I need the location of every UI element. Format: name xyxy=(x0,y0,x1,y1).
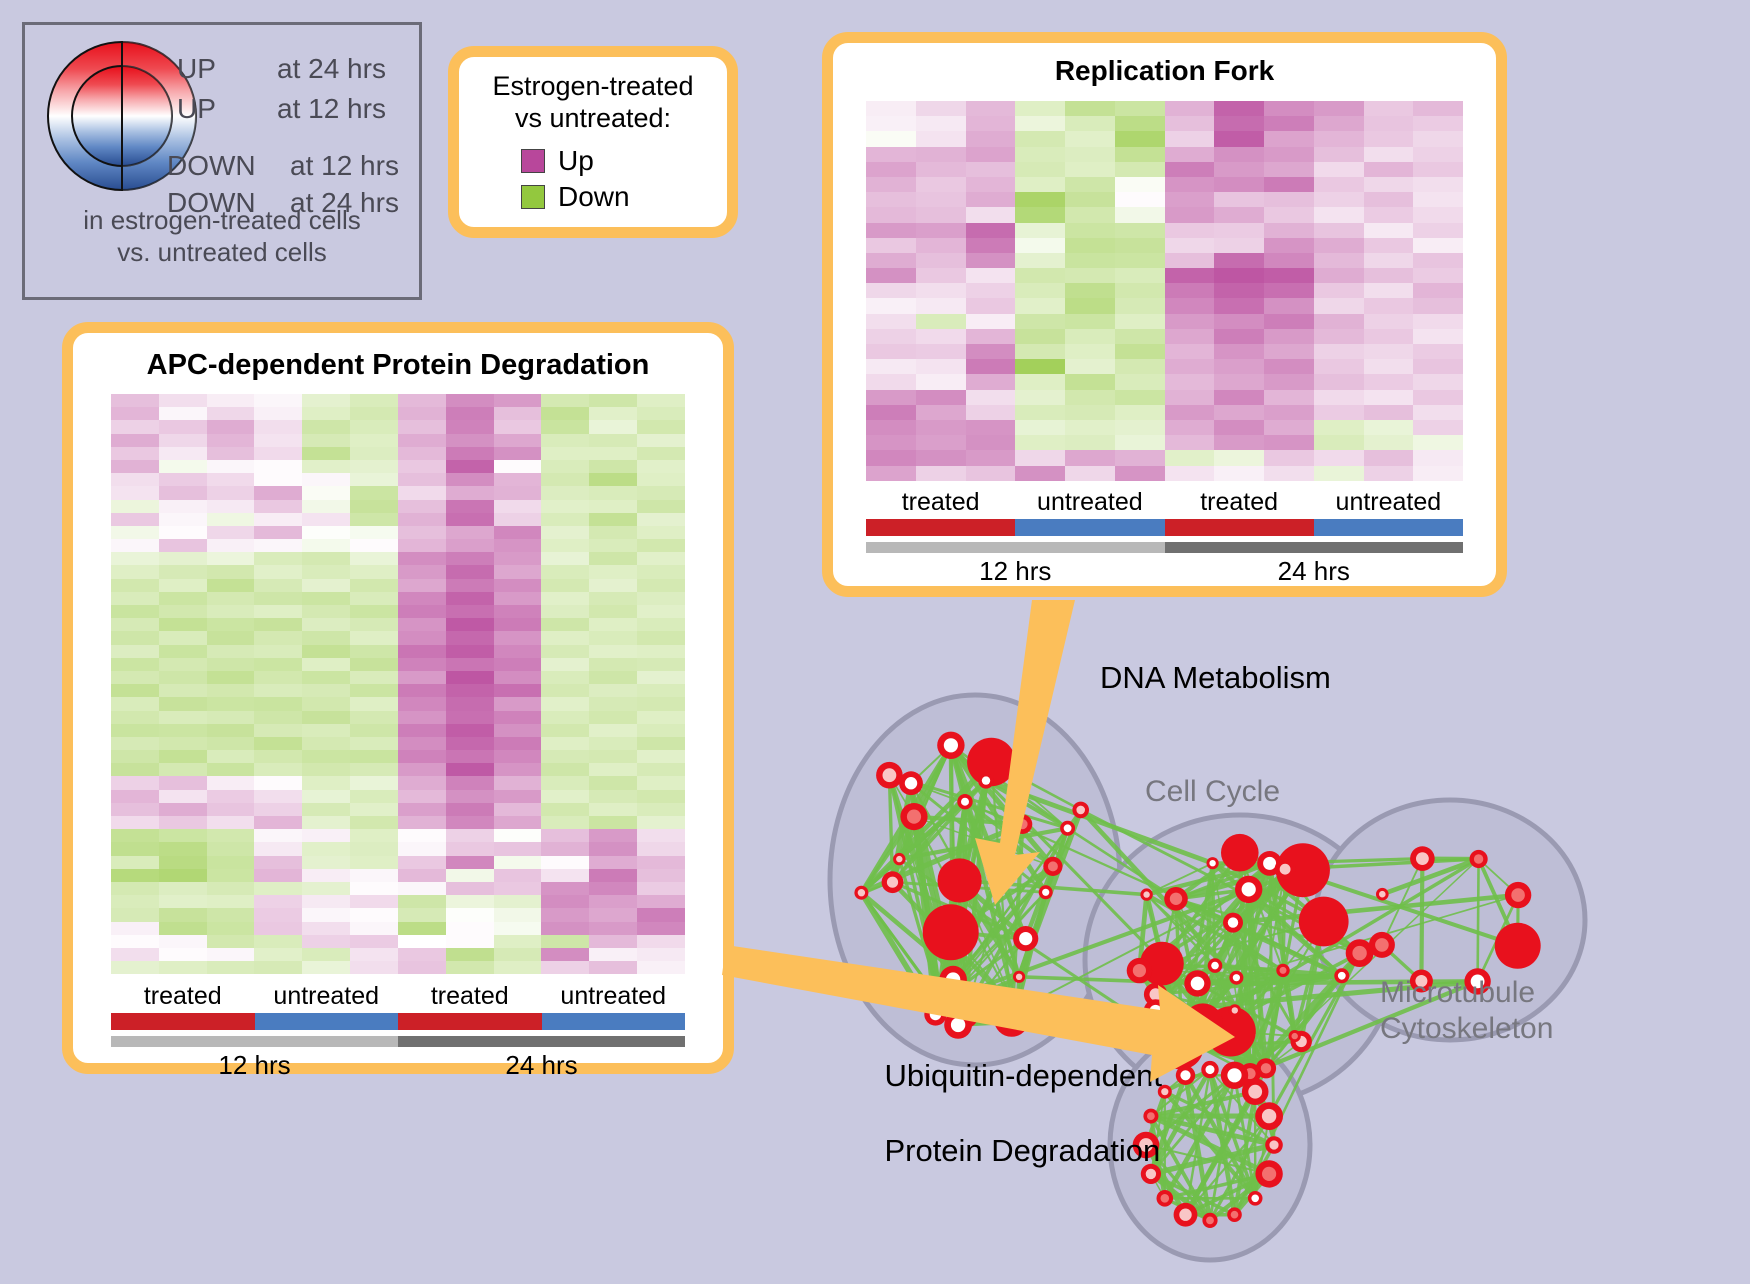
apc-degradation-panel: APC-dependent Protein Degradation treate… xyxy=(62,322,734,1074)
apc-timepoint-bar xyxy=(111,1036,685,1047)
direction-legend-footer: in estrogen-treated cells vs. untreated … xyxy=(25,205,419,268)
replication-fork-title: Replication Fork xyxy=(833,55,1496,87)
direction-legend-box: UP at 24 hrs UP at 12 hrs DOWN at 12 hrs… xyxy=(22,22,422,300)
replication-fork-sample-labels: treateduntreatedtreateduntreated xyxy=(866,488,1463,517)
expression-color-legend-panel: Estrogen-treated vs untreated: Up Down xyxy=(448,46,738,238)
callout-line-1: Ubiquitin-dependent xyxy=(884,1058,1162,1093)
legend-title-line-2: vs untreated: xyxy=(459,103,727,135)
apc-degradation-title: APC-dependent Protein Degradation xyxy=(73,349,723,382)
replication-fork-treatment-bar xyxy=(866,519,1463,536)
up-label: Up xyxy=(558,145,594,177)
legend-title: Estrogen-treated vs untreated: xyxy=(459,71,727,135)
wheel-divider xyxy=(121,41,123,191)
cluster-label-microtubule-cytoskeleton: MicrotubuleCytoskeleton xyxy=(1380,975,1553,1047)
wheel-key-down-12: DOWN xyxy=(167,150,256,182)
replication-fork-time-labels: 12 hrs24 hrs xyxy=(866,556,1463,587)
replication-fork-timepoint-bar xyxy=(866,542,1463,553)
apc-degradation-heatmap xyxy=(111,394,685,974)
callout-line-2: Protein Degradation xyxy=(884,1133,1160,1168)
down-color-swatch xyxy=(521,185,545,209)
apc-sample-labels: treateduntreatedtreateduntreated xyxy=(111,982,685,1011)
footer-line-1: in estrogen-treated cells xyxy=(25,205,419,237)
cluster-label-cell-cycle: Cell Cycle xyxy=(1145,775,1280,809)
wheel-key-up-24: UP xyxy=(177,53,216,85)
replication-fork-panel: Replication Fork treateduntreatedtreated… xyxy=(822,32,1507,597)
apc-time-labels: 12 hrs24 hrs xyxy=(111,1050,685,1081)
replication-fork-heatmap xyxy=(866,101,1463,481)
legend-row-down: Down xyxy=(521,181,727,213)
wheel-time-up-24: at 24 hrs xyxy=(277,53,386,85)
footer-line-2: vs. untreated cells xyxy=(25,237,419,269)
callout-label-ubiquitin-degradation: Ubiquitin-dependent Protein Degradation xyxy=(850,1020,1162,1206)
wheel-time-down-12: at 12 hrs xyxy=(290,150,399,182)
pathway-network-graph: DNA Metabolism Cell Cycle MicrotubuleCyt… xyxy=(770,600,1750,1279)
wheel-time-up-12: at 12 hrs xyxy=(277,93,386,125)
down-label: Down xyxy=(558,181,630,213)
cluster-label-dna-metabolism: DNA Metabolism xyxy=(1100,660,1331,696)
up-color-swatch xyxy=(521,149,545,173)
legend-row-up: Up xyxy=(521,145,727,177)
apc-treatment-bar xyxy=(111,1013,685,1030)
wheel-key-up-12: UP xyxy=(177,93,216,125)
legend-title-line-1: Estrogen-treated xyxy=(459,71,727,103)
